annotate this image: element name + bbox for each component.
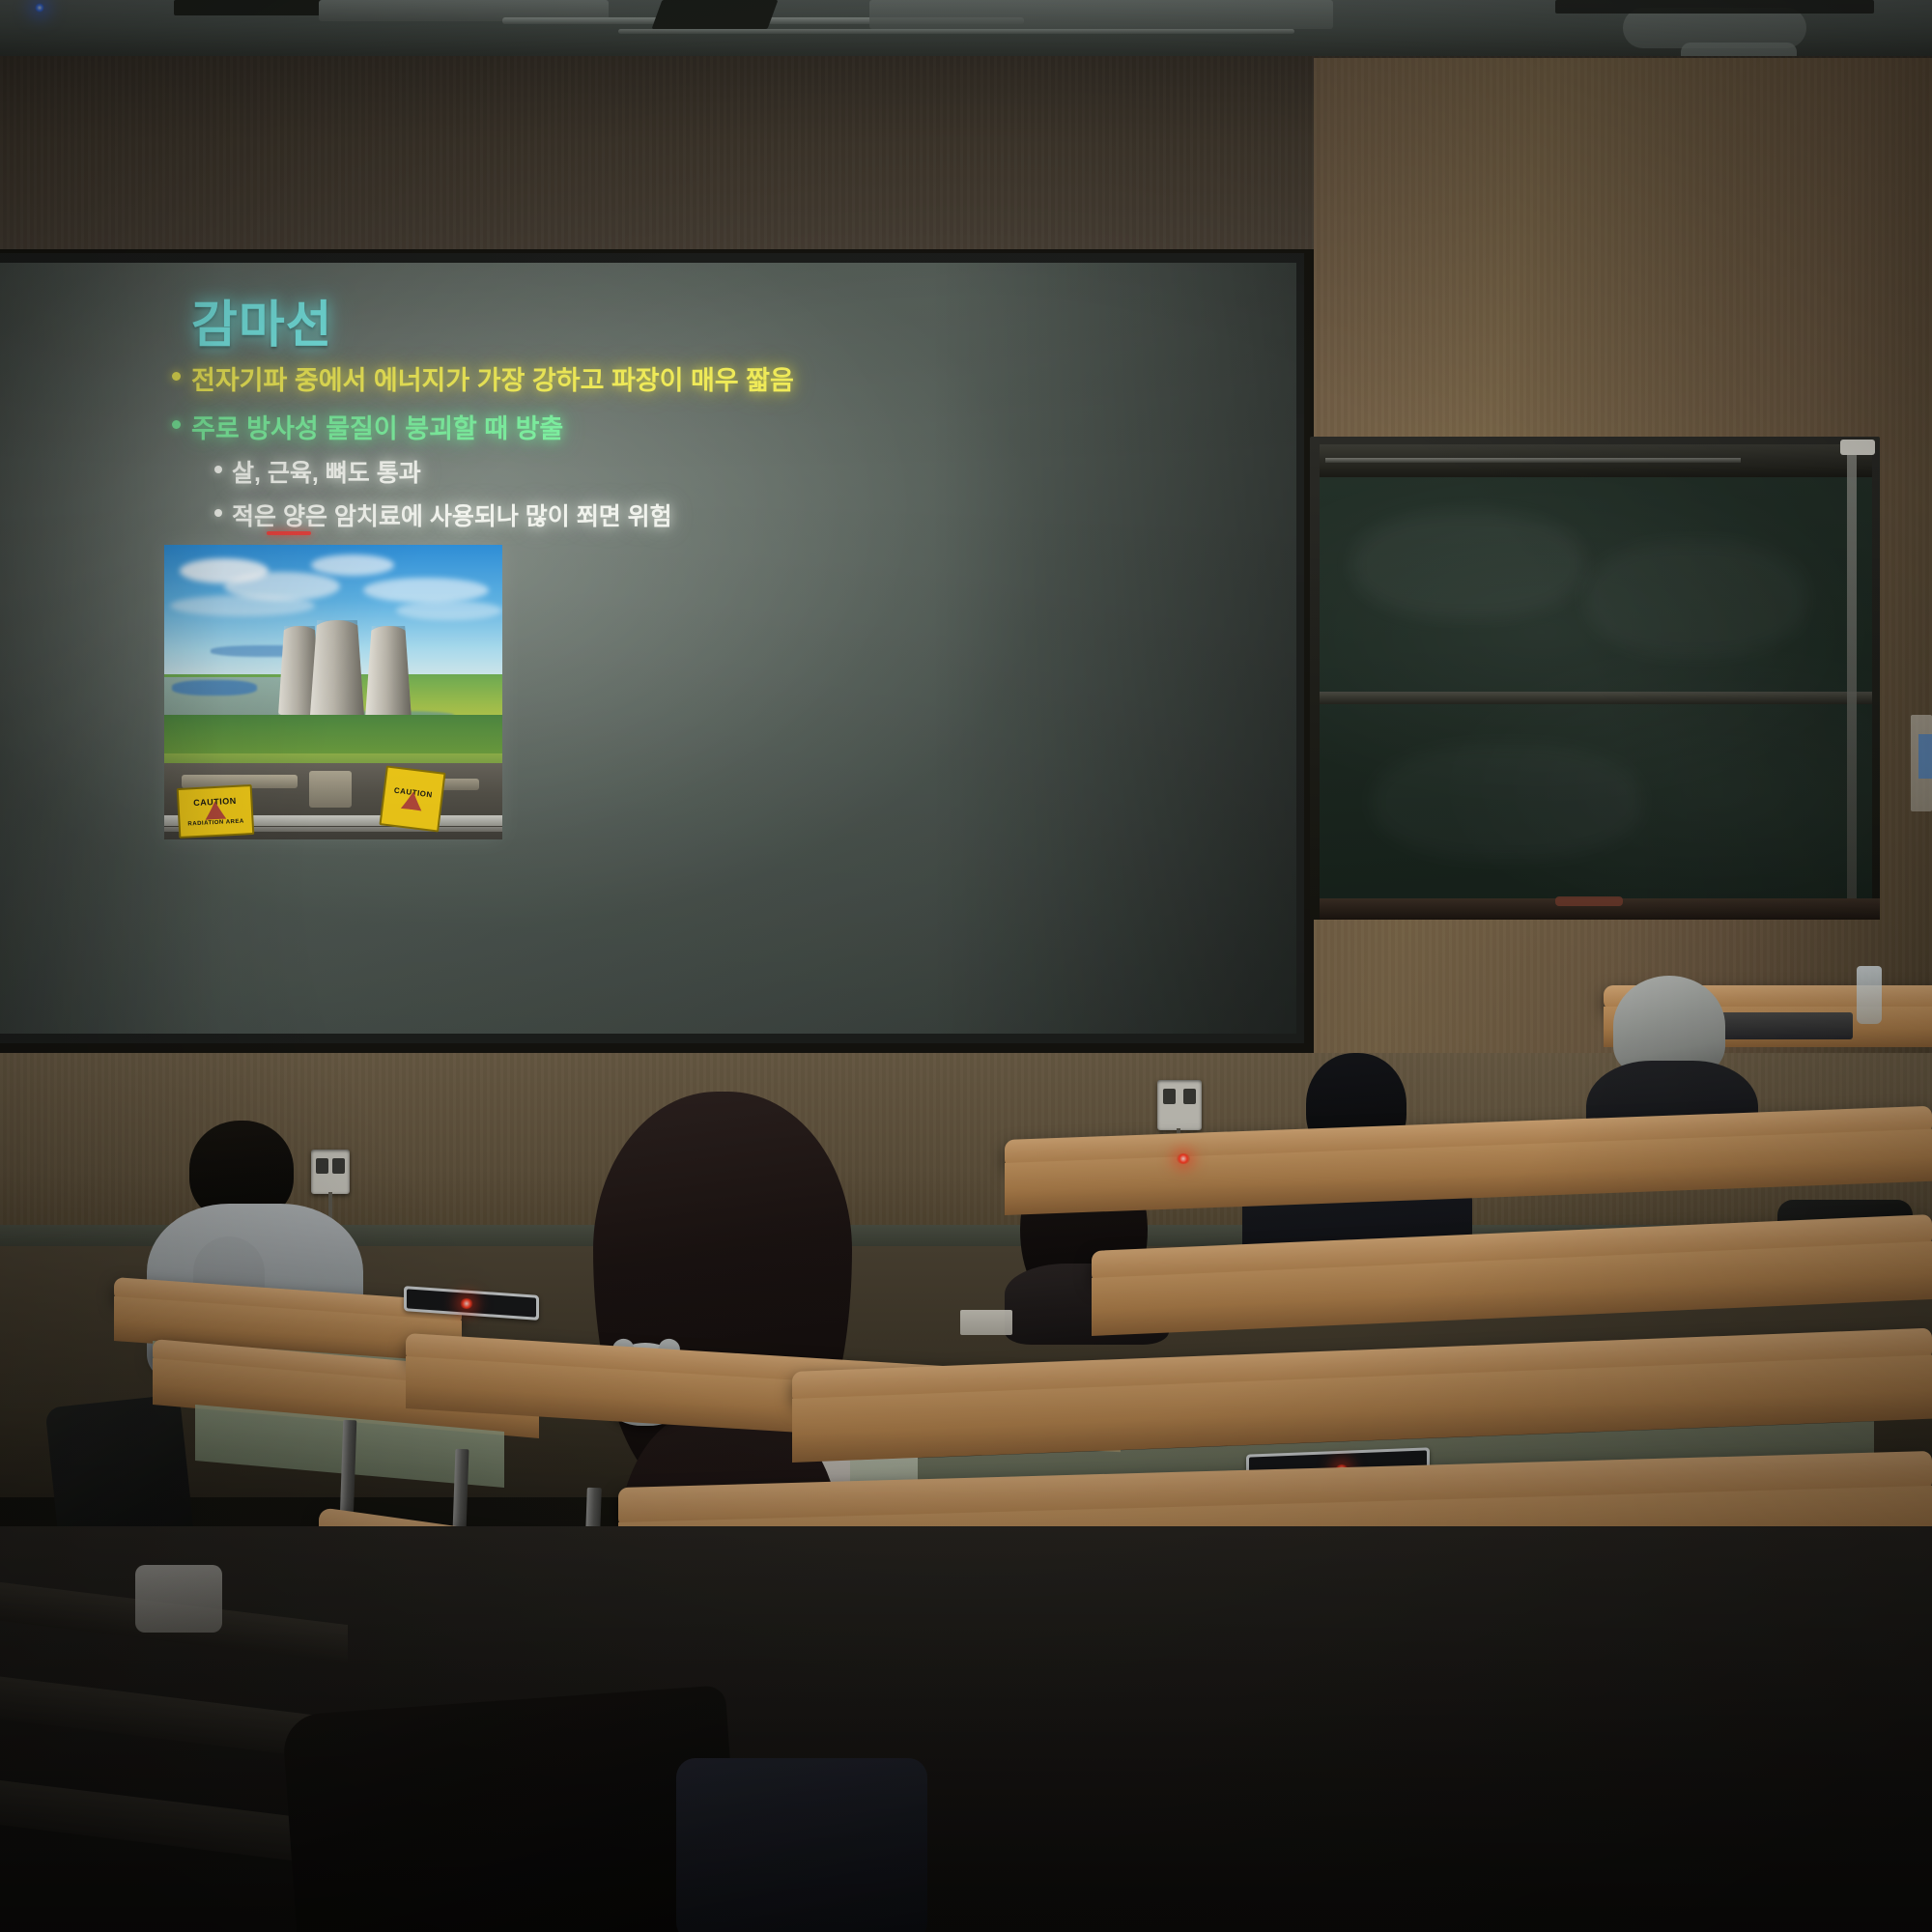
caution-radiation-sign-left: CAUTION RADIATION AREA — [177, 784, 255, 838]
cooling-tower-center — [309, 620, 365, 728]
chalk-eraser — [1555, 896, 1623, 906]
ceiling-led-indicator-left — [35, 3, 44, 13]
bullet-dot-icon — [214, 509, 222, 517]
foreground-shadow-mass — [281, 1685, 742, 1932]
slide-bullet-1: 전자기파 중에서 에너지가 가장 강하고 파장이 매우 짧음 — [172, 359, 794, 397]
wall-outlet-left — [311, 1150, 350, 1194]
bullet-dot-icon — [172, 372, 181, 381]
lecture-hall-photo: 감마선 전자기파 중에서 에너지가 가장 강하고 파장이 매우 짧음 주로 방사… — [0, 0, 1932, 1932]
desk-led-indicator-2 — [460, 1298, 473, 1309]
wall-notice-accent — [1918, 734, 1932, 779]
slide-title: 감마선 — [191, 284, 333, 356]
bullet-dot-icon — [214, 466, 222, 473]
bullet-dot-icon — [172, 420, 181, 429]
wall-outlet-center — [1157, 1080, 1202, 1130]
projection-screen: 감마선 전자기파 중에서 에너지가 가장 강하고 파장이 매우 짧음 주로 방사… — [0, 263, 1296, 1034]
cooling-tower-right — [365, 626, 412, 719]
chalk-tray — [1320, 692, 1872, 704]
board-corner-clip — [1840, 440, 1875, 455]
ceiling — [0, 0, 1932, 64]
desk-led-indicator-1 — [1177, 1153, 1190, 1164]
seat-back-foreground — [676, 1758, 927, 1932]
caution-radiation-sign-right: CAUTION — [379, 765, 445, 832]
slide-image: CAUTION RADIATION AREA CAUTION — [164, 545, 502, 839]
slide-bullet-3: 살, 근육, 뼈도 통과 — [214, 454, 421, 489]
water-bottle — [1857, 966, 1882, 1024]
slide-bullet-2: 주로 방사성 물질이 붕괴할 때 방출 — [172, 408, 563, 445]
slide-red-underline — [267, 531, 311, 535]
slide-bullet-4: 적은 양은 암치료에 사용되나 많이 쬐면 위험 — [214, 497, 672, 532]
shoe-left-student — [135, 1565, 222, 1633]
